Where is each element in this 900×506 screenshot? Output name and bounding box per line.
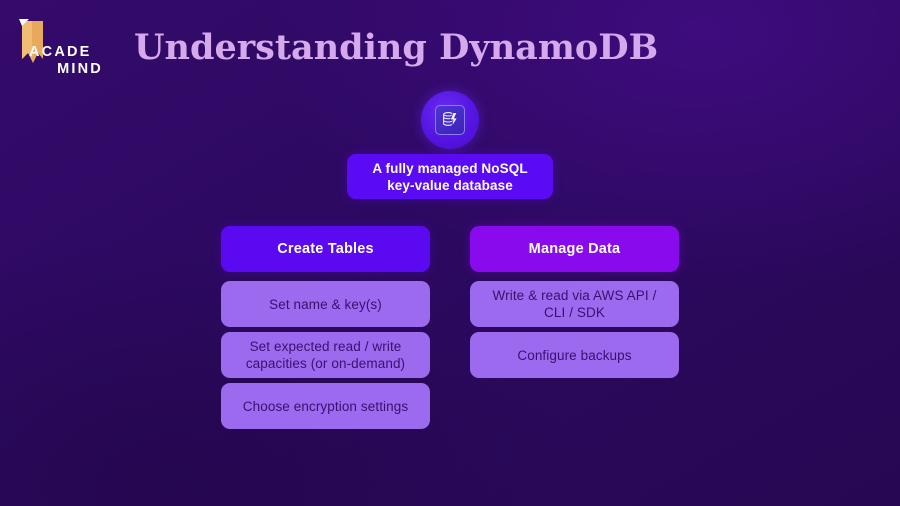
leaf-create-tables-3-label: Choose encryption settings	[231, 398, 420, 415]
leaf-create-tables-2[interactable]: Set expected read / write capacities (or…	[221, 332, 430, 378]
root-node-fully-managed-nosql[interactable]: A fully managed NoSQL key-value database	[347, 154, 553, 199]
leaf-create-tables-2-label: Set expected read / write capacities (or…	[231, 338, 420, 372]
leaf-create-tables-3[interactable]: Choose encryption settings	[221, 383, 430, 429]
academind-logo: ACADE MIND	[18, 18, 123, 80]
slide-canvas: ACADE MIND Understanding DynamoDB A full…	[0, 0, 900, 506]
leaf-create-tables-1[interactable]: Set name & key(s)	[221, 281, 430, 327]
column-header-create-tables-label: Create Tables	[231, 240, 420, 258]
root-node-label-line2: key-value database	[387, 178, 513, 193]
leaf-manage-data-1-label: Write & read via AWS API / CLI / SDK	[480, 287, 669, 321]
logo-wordmark-line1: ACADE	[27, 44, 123, 61]
root-node-label-line1: A fully managed NoSQL	[372, 161, 527, 176]
leaf-create-tables-1-label: Set name & key(s)	[231, 296, 420, 313]
logo-wordmark-line2: MIND	[27, 61, 123, 78]
column-header-manage-data[interactable]: Manage Data	[470, 226, 679, 272]
column-header-manage-data-label: Manage Data	[480, 240, 669, 258]
root-node-label: A fully managed NoSQL key-value database	[357, 160, 543, 194]
logo-wordmark: ACADE MIND	[27, 44, 123, 78]
page-title: Understanding DynamoDB	[134, 20, 658, 76]
dynamodb-database-icon	[421, 91, 479, 149]
column-header-create-tables[interactable]: Create Tables	[221, 226, 430, 272]
leaf-manage-data-2-label: Configure backups	[480, 347, 669, 364]
leaf-manage-data-2[interactable]: Configure backups	[470, 332, 679, 378]
leaf-manage-data-1[interactable]: Write & read via AWS API / CLI / SDK	[470, 281, 679, 327]
dynamodb-icon-tile	[435, 105, 465, 135]
